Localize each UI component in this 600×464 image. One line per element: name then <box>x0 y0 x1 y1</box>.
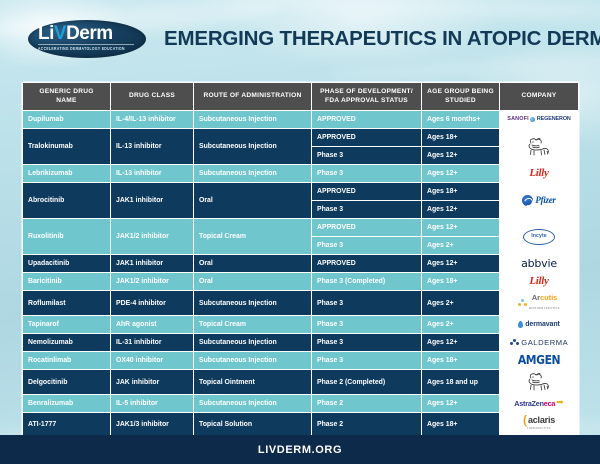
column-header-phase-of-development: PHASE OF DEVELOPMENT/ FDA APPROVAL STATU… <box>312 83 422 111</box>
cell-generic-drug-name: Benralizumab <box>23 395 111 413</box>
incyte-wordmark: Incyte <box>523 229 555 245</box>
cell-phase-status: Phase 3 (Completed) <box>312 273 422 291</box>
logo-wordmark: LiVDerm <box>38 24 142 43</box>
cell-company-logo: AMGEN <box>500 352 579 370</box>
cell-phase-status: Phase 3 <box>312 334 422 352</box>
cell-company-logo: AstraZeneca➥ <box>500 395 579 413</box>
cell-drug-class: IL-13 inhibitor <box>111 129 194 165</box>
sanofi-wordmark: SANOFI <box>507 115 529 124</box>
cell-age-group: Ages 18+ <box>422 129 500 147</box>
cell-phase-status: Phase 2 (Completed) <box>312 370 422 395</box>
cell-route-of-administration: Topical Ointment <box>194 370 312 395</box>
cell-age-group: Ages 18+ <box>422 413 500 437</box>
cell-route-of-administration: Subcutaneous Injection <box>194 352 312 370</box>
cell-drug-class: JAK inhibitor <box>111 370 194 395</box>
table-row: DupilumabIL-4/IL-13 inhibitorSubcutaneou… <box>23 111 579 129</box>
logo-tagline: ACCELERATING DERMATOLOGY EDUCATION <box>38 46 142 51</box>
cell-company-logo: Lilly <box>500 165 579 183</box>
table-row: RocatinlimabOX40 inhibitorSubcutaneous I… <box>23 352 579 370</box>
cell-age-group: Ages 12+ <box>422 165 500 183</box>
therapeutics-table-container: GENERIC DRUG NAME DRUG CLASS ROUTE OF AD… <box>22 82 578 437</box>
table-row: LebrikizumabIL-13 inhibitorSubcutaneous … <box>23 165 579 183</box>
logo-word-v: V <box>54 23 66 44</box>
cell-drug-class: JAK1/2 inhibitor <box>111 219 194 255</box>
cell-age-group: Ages 12+ <box>422 255 500 273</box>
cell-generic-drug-name: Tralokinumab <box>23 129 111 165</box>
page-footer: LIVDERM.ORG <box>0 435 600 464</box>
table-header: GENERIC DRUG NAME DRUG CLASS ROUTE OF AD… <box>23 83 579 111</box>
logo-divider <box>38 44 134 45</box>
table-row: RuxolitinibJAK1/2 inhibitorTopical Cream… <box>23 219 579 237</box>
header-line: GENERIC DRUG <box>39 88 93 95</box>
cell-age-group: Ages 12+ <box>422 147 500 165</box>
astrazeneca-logo: AstraZeneca➥ <box>502 399 576 408</box>
cell-company-logo: Incyte <box>500 219 579 255</box>
table-row: UpadacitinibJAK1 inhibitorOralAPPROVEDAg… <box>23 255 579 273</box>
cell-route-of-administration: Topical Cream <box>194 316 312 334</box>
cell-company-logo: ArcutisBIOTHERAPEUTICS <box>500 291 579 316</box>
cell-route-of-administration: Oral <box>194 273 312 291</box>
logo-word-li: Li <box>38 23 54 44</box>
logo-word-derm: Derm <box>66 23 113 44</box>
cell-generic-drug-name: ATI-1777 <box>23 413 111 437</box>
dermavant-wordmark: dermavant <box>525 320 560 329</box>
cell-company-logo: Pfizer <box>500 183 579 219</box>
table-row: DelgocitinibJAK inhibitorTopical Ointmen… <box>23 370 579 395</box>
abbvie-logo: abbvie <box>502 259 576 268</box>
header-line: NAME <box>56 97 76 104</box>
cell-route-of-administration: Subcutaneous Injection <box>194 334 312 352</box>
cell-generic-drug-name: Roflumilast <box>23 291 111 316</box>
cell-company-logo: (aclarisTHERAPEUTICS <box>500 413 579 437</box>
sanofi-dot-icon <box>530 117 535 122</box>
pfizer-wordmark: Pfizer <box>535 196 555 205</box>
cell-phase-status: APPROVED <box>312 255 422 273</box>
cell-route-of-administration: Topical Solution <box>194 413 312 437</box>
cell-route-of-administration: Oral <box>194 183 312 219</box>
cell-company-logo: Lilly <box>500 273 579 291</box>
table-row: BenralizumabIL-5 inhibitorSubcutaneous I… <box>23 395 579 413</box>
cell-phase-status: Phase 2 <box>312 413 422 437</box>
leo-lion-icon <box>524 137 554 157</box>
cell-phase-status: APPROVED <box>312 219 422 237</box>
cell-age-group: Ages 18+ <box>422 183 500 201</box>
header-line: STUDIED <box>445 97 476 104</box>
cell-phase-status: APPROVED <box>312 129 422 147</box>
arcutis-wordmark-block: ArcutisBIOTHERAPEUTICS <box>529 293 560 313</box>
cell-company-logo: GALDERMA <box>500 334 579 352</box>
column-header-drug-class: DRUG CLASS <box>111 83 194 111</box>
arcutis-logo: ArcutisBIOTHERAPEUTICS <box>502 293 576 313</box>
column-header-generic-drug-name: GENERIC DRUG NAME <box>23 83 111 111</box>
galderma-dots-icon <box>510 339 519 347</box>
header-line: COMPANY <box>522 92 557 99</box>
page-header: LiVDerm ACCELERATING DERMATOLOGY EDUCATI… <box>0 0 600 78</box>
amgen-logo: AMGEN <box>502 356 576 365</box>
cell-generic-drug-name: Tapinarof <box>23 316 111 334</box>
cell-age-group: Ages 18+ <box>422 273 500 291</box>
cell-age-group: Ages 2+ <box>422 316 500 334</box>
cell-generic-drug-name: Nemolizumab <box>23 334 111 352</box>
cell-company-logo: SANOFIREGENERON <box>500 111 579 129</box>
logo-text-block: LiVDerm ACCELERATING DERMATOLOGY EDUCATI… <box>38 24 142 50</box>
cell-generic-drug-name: Ruxolitinib <box>23 219 111 255</box>
cell-phase-status: Phase 3 <box>312 237 422 255</box>
cell-generic-drug-name: Rocatinlimab <box>23 352 111 370</box>
cell-drug-class: JAK1 inhibitor <box>111 255 194 273</box>
galderma-logo: GALDERMA <box>502 338 576 347</box>
cell-phase-status: Phase 3 <box>312 352 422 370</box>
cell-generic-drug-name: Abrocitinib <box>23 183 111 219</box>
aclaris-wordmark: aclaris <box>528 416 555 425</box>
table-body: DupilumabIL-4/IL-13 inhibitorSubcutaneou… <box>23 111 579 437</box>
cell-drug-class: JAK1 inhibitor <box>111 183 194 219</box>
regeneron-wordmark: REGENERON <box>537 115 571 124</box>
cell-drug-class: JAK1/3 inhibitor <box>111 413 194 437</box>
cell-drug-class: IL-31 inhibitor <box>111 334 194 352</box>
page-title: EMERGING THERAPEUTICS IN ATOPIC DERM <box>164 27 600 51</box>
arcutis-dots-icon <box>518 299 527 308</box>
table-row: NemolizumabIL-31 inhibitorSubcutaneous I… <box>23 334 579 352</box>
cell-phase-status: Phase 3 <box>312 147 422 165</box>
cell-route-of-administration: Oral <box>194 255 312 273</box>
arcutis-wordmark: Arcutis <box>532 293 557 302</box>
table-row: TralokinumabIL-13 inhibitorSubcutaneous … <box>23 129 579 147</box>
cell-drug-class: IL-13 inhibitor <box>111 165 194 183</box>
cell-generic-drug-name: Baricitinib <box>23 273 111 291</box>
cell-age-group: Ages 12+ <box>422 219 500 237</box>
cell-company-logo <box>500 370 579 395</box>
cell-drug-class: OX40 inhibitor <box>111 352 194 370</box>
cell-phase-status: APPROVED <box>312 183 422 201</box>
cell-age-group: Ages 18+ <box>422 352 500 370</box>
aclaris-subtext: THERAPEUTICS <box>527 425 551 434</box>
header-line: AGE GROUP BEING <box>427 88 494 95</box>
cell-phase-status: Phase 3 <box>312 165 422 183</box>
cell-phase-status: Phase 3 <box>312 291 422 316</box>
header-line: ROUTE OF ADMINISTRATION <box>203 92 301 99</box>
astrazeneca-ribbon-icon: ➥ <box>556 399 564 406</box>
cell-age-group: Ages 2+ <box>422 291 500 316</box>
header-line: PHASE OF DEVELOPMENT/ <box>320 88 413 95</box>
cell-route-of-administration: Topical Cream <box>194 219 312 255</box>
cell-generic-drug-name: Dupilumab <box>23 111 111 129</box>
header-line: DRUG CLASS <box>129 92 175 99</box>
cell-route-of-administration: Subcutaneous Injection <box>194 291 312 316</box>
table-row: RoflumilastPDE-4 inhibitorSubcutaneous I… <box>23 291 579 316</box>
cell-generic-drug-name: Lebrikizumab <box>23 165 111 183</box>
leo-lion-icon <box>524 372 554 392</box>
incyte-logo: Incyte <box>502 229 576 245</box>
cell-company-logo <box>500 129 579 165</box>
table-row: TapinarofAhR agonistTopical CreamPhase 3… <box>23 316 579 334</box>
column-header-route-of-administration: ROUTE OF ADMINISTRATION <box>194 83 312 111</box>
dermavant-logo: dermavant <box>502 320 576 329</box>
aclaris-wordmark-row: (aclaris <box>523 415 555 425</box>
cell-phase-status: Phase 2 <box>312 395 422 413</box>
cell-generic-drug-name: Upadacitinib <box>23 255 111 273</box>
cell-drug-class: JAK1/2 inhibitor <box>111 273 194 291</box>
table-row: BaricitinibJAK1/2 inhibitorOralPhase 3 (… <box>23 273 579 291</box>
lilly-logo: Lilly <box>502 169 576 178</box>
arcutis-subtext: BIOTHERAPEUTICS <box>529 307 560 310</box>
column-header-age-group: AGE GROUP BEING STUDIED <box>422 83 500 111</box>
leo-pharma-logo <box>502 372 576 392</box>
cell-age-group: Ages 18 and up <box>422 370 500 395</box>
livderm-logo: LiVDerm ACCELERATING DERMATOLOGY EDUCATI… <box>28 17 146 61</box>
column-header-company: COMPANY <box>500 83 579 111</box>
lilly-logo: Lilly <box>502 277 576 286</box>
pfizer-logo: Pfizer <box>502 195 576 206</box>
leo-pharma-logo <box>502 137 576 157</box>
cell-phase-status: Phase 3 <box>312 316 422 334</box>
cell-route-of-administration: Subcutaneous Injection <box>194 165 312 183</box>
header-line: FDA APPROVAL STATUS <box>325 97 408 104</box>
cell-drug-class: AhR agonist <box>111 316 194 334</box>
cell-company-logo: dermavant <box>500 316 579 334</box>
dermavant-droplet-icon <box>518 321 523 328</box>
cell-route-of-administration: Subcutaneous Injection <box>194 395 312 413</box>
cell-age-group: Ages 12+ <box>422 334 500 352</box>
cell-drug-class: PDE-4 inhibitor <box>111 291 194 316</box>
cell-route-of-administration: Subcutaneous Injection <box>194 111 312 129</box>
therapeutics-table: GENERIC DRUG NAME DRUG CLASS ROUTE OF AD… <box>22 82 579 437</box>
cell-drug-class: IL-5 inhibitor <box>111 395 194 413</box>
cell-generic-drug-name: Delgocitinib <box>23 370 111 395</box>
sanofi-regeneron-logo: SANOFIREGENERON <box>502 115 576 124</box>
cell-phase-status: APPROVED <box>312 111 422 129</box>
cell-company-logo: abbvie <box>500 255 579 273</box>
cell-age-group: Ages 6 months+ <box>422 111 500 129</box>
cell-route-of-administration: Subcutaneous Injection <box>194 129 312 165</box>
aclaris-logo: (aclarisTHERAPEUTICS <box>502 415 576 434</box>
galderma-wordmark: GALDERMA <box>521 338 568 347</box>
pfizer-mark-icon <box>522 195 533 206</box>
table-row: ATI-1777JAK1/3 inhibitorTopical Solution… <box>23 413 579 437</box>
cell-age-group: Ages 12+ <box>422 201 500 219</box>
cell-drug-class: IL-4/IL-13 inhibitor <box>111 111 194 129</box>
table-header-row: GENERIC DRUG NAME DRUG CLASS ROUTE OF AD… <box>23 83 579 111</box>
aclaris-arc-icon: ( <box>523 415 527 425</box>
cell-phase-status: Phase 3 <box>312 201 422 219</box>
table-row: AbrocitinibJAK1 inhibitorOralAPPROVEDAge… <box>23 183 579 201</box>
cell-age-group: Ages 12+ <box>422 395 500 413</box>
cell-age-group: Ages 2+ <box>422 237 500 255</box>
footer-url: LIVDERM.ORG <box>258 444 342 456</box>
astrazeneca-wordmark: AstraZeneca <box>514 399 555 408</box>
